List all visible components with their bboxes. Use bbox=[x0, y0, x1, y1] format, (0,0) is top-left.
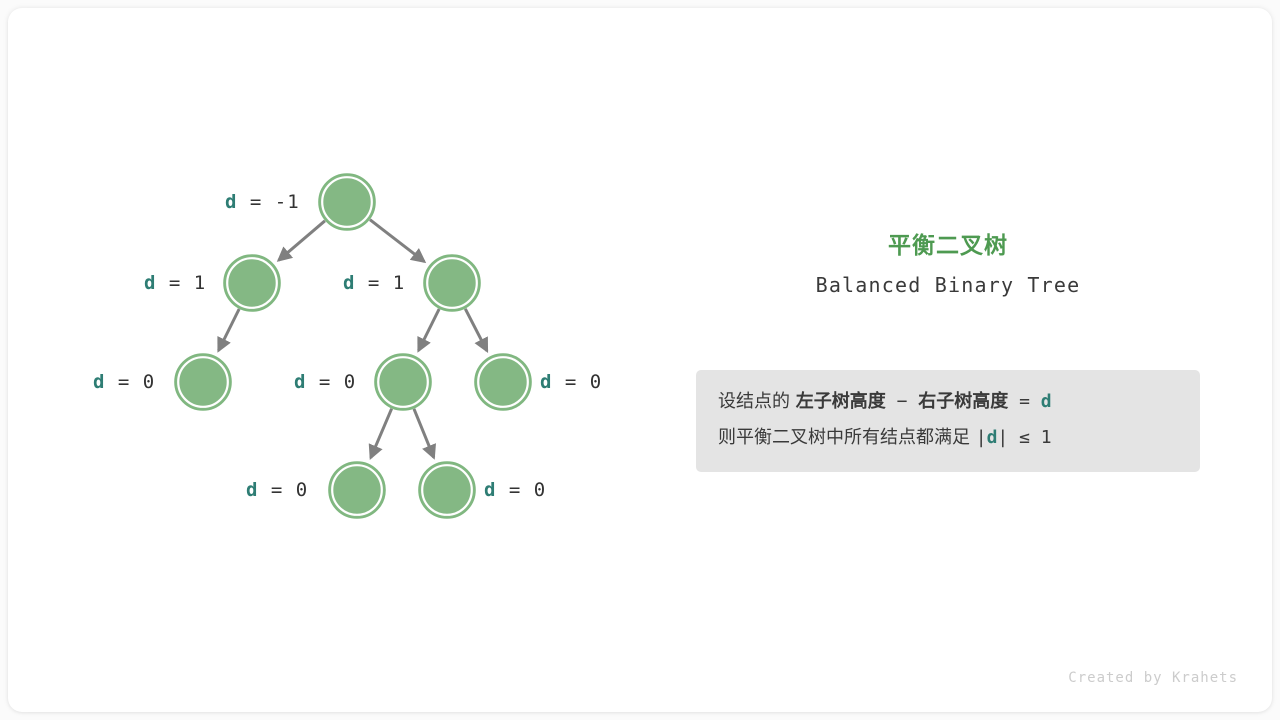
node-label-var: d bbox=[246, 479, 258, 501]
node-balance-label: d = 0 bbox=[484, 479, 546, 501]
node-balance-label: d = 0 bbox=[246, 479, 308, 501]
binary-tree-graphic bbox=[0, 0, 1280, 720]
node-label-var: d bbox=[540, 371, 552, 393]
node-label-var: d bbox=[294, 371, 306, 393]
definition-var-d: d bbox=[1041, 391, 1052, 412]
tree-nodes bbox=[175, 174, 531, 518]
diagram-page: d = -1d = 1d = 1d = 0d = 0d = 0d = 0d = … bbox=[0, 0, 1280, 720]
node-label-value: = 1 bbox=[355, 272, 405, 294]
definition-text-1a: 设结点的 bbox=[718, 391, 796, 412]
tree-node-outer-ring bbox=[375, 354, 431, 410]
tree-node-outer-ring bbox=[175, 354, 231, 410]
page-title: 平衡二叉树 bbox=[696, 226, 1200, 260]
info-panel: 平衡二叉树 Balanced Binary Tree bbox=[696, 226, 1200, 297]
tree-edge bbox=[219, 309, 240, 351]
node-balance-label: d = -1 bbox=[225, 191, 300, 213]
tree-node-outer-ring bbox=[419, 462, 475, 518]
node-balance-label: d = 0 bbox=[294, 371, 356, 393]
node-label-value: = 0 bbox=[306, 371, 356, 393]
node-label-value: = -1 bbox=[237, 191, 299, 213]
credit-text: Created by Krahets bbox=[1068, 670, 1238, 686]
page-subtitle: Balanced Binary Tree bbox=[696, 273, 1200, 297]
definition-line-2: 则平衡二叉树中所有结点都满足 |d| ≤ 1 bbox=[718, 420, 1178, 456]
node-label-value: = 0 bbox=[258, 479, 308, 501]
definition-equals-sign: = bbox=[1008, 391, 1041, 412]
abs-bar-right: | bbox=[997, 427, 1008, 448]
definition-text-left-height: 左子树高度 bbox=[796, 391, 886, 412]
node-balance-label: d = 0 bbox=[540, 371, 602, 393]
tree-edge bbox=[414, 409, 434, 458]
node-label-value: = 1 bbox=[156, 272, 206, 294]
node-label-value: = 0 bbox=[552, 371, 602, 393]
node-label-value: = 0 bbox=[105, 371, 155, 393]
definition-box: 设结点的 左子树高度 − 右子树高度 = d 则平衡二叉树中所有结点都满足 |d… bbox=[696, 370, 1200, 472]
node-label-var: d bbox=[225, 191, 237, 213]
node-balance-label: d = 1 bbox=[343, 272, 405, 294]
abs-bar-left: | bbox=[976, 427, 987, 448]
node-balance-label: d = 0 bbox=[93, 371, 155, 393]
definition-constraint: ≤ 1 bbox=[1008, 427, 1051, 448]
tree-node-outer-ring bbox=[224, 255, 280, 311]
definition-text-right-height: 右子树高度 bbox=[918, 391, 1008, 412]
tree-edge bbox=[371, 409, 392, 458]
tree-node-outer-ring bbox=[329, 462, 385, 518]
definition-var-d-2: d bbox=[987, 427, 998, 448]
tree-node-outer-ring bbox=[319, 174, 375, 230]
node-balance-label: d = 1 bbox=[144, 272, 206, 294]
definition-line-1: 设结点的 左子树高度 − 右子树高度 = d bbox=[718, 384, 1178, 420]
definition-minus-sign: − bbox=[886, 391, 919, 412]
tree-node-outer-ring bbox=[424, 255, 480, 311]
tree-edge bbox=[419, 309, 440, 351]
node-label-var: d bbox=[144, 272, 156, 294]
tree-edge bbox=[279, 221, 325, 260]
node-label-var: d bbox=[93, 371, 105, 393]
node-label-value: = 0 bbox=[496, 479, 546, 501]
tree-node-outer-ring bbox=[475, 354, 531, 410]
node-label-var: d bbox=[343, 272, 355, 294]
tree-edge bbox=[370, 220, 424, 262]
node-label-var: d bbox=[484, 479, 496, 501]
definition-text-2a: 则平衡二叉树中所有结点都满足 bbox=[718, 427, 976, 448]
tree-edge bbox=[465, 309, 487, 351]
